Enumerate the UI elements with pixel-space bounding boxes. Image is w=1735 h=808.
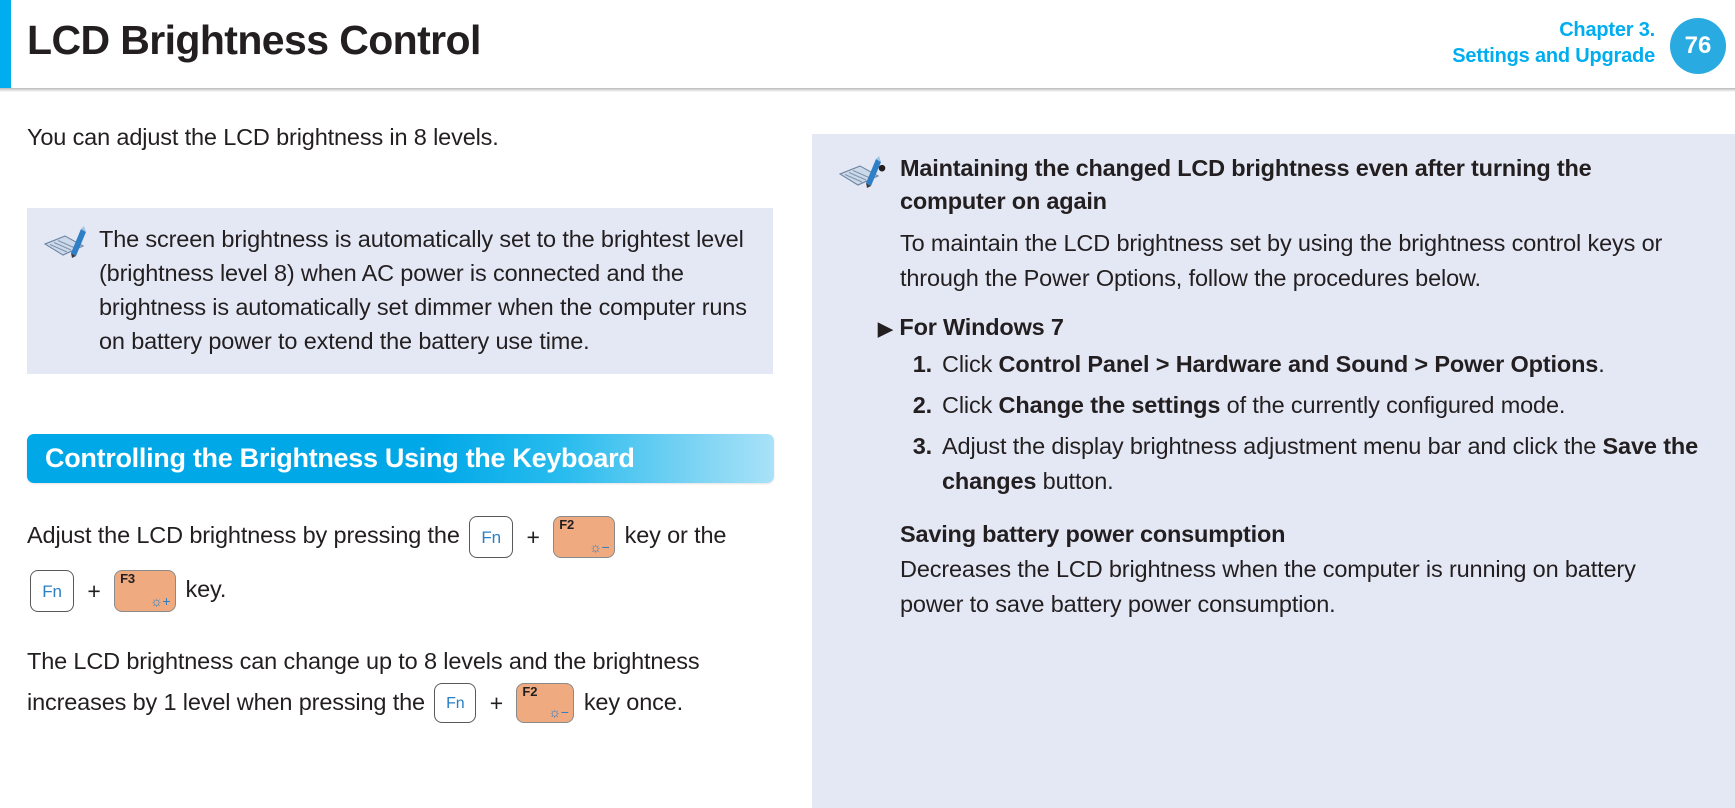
right-note-panel: • Maintaining the changed LCD brightness… [812,134,1735,808]
paragraph-adjust-brightness: Adjust the LCD brightness by pressing th… [27,509,775,617]
step-item-3: 3.Adjust the display brightness adjustme… [900,429,1703,499]
step-text-post-3: button. [1036,468,1113,494]
paragraph-adjust-part3: key. [185,576,226,602]
plus-sign-2: + [83,565,104,617]
plus-sign-3: + [486,683,507,724]
step-text-post-1: . [1598,351,1604,377]
left-column: You can adjust the LCD brightness in 8 l… [27,122,775,724]
bullet-marker: • [878,152,886,185]
chapter-line-1: Chapter 3. [1452,17,1655,43]
step-text-bold-2: Change the settings [999,392,1221,418]
saving-battery-paragraph: Decreases the LCD brightness when the co… [900,552,1703,622]
chapter-label: Chapter 3. Settings and Upgrade [1452,17,1655,69]
brightness-down-icon: ☼− [589,540,609,554]
paragraph-adjust-part2: key or the [625,522,727,548]
note-box-left: The screen brightness is automatically s… [27,208,773,374]
step-number-2: 2. [900,388,932,423]
intro-text: You can adjust the LCD brightness in 8 l… [27,122,775,152]
page-title: LCD Brightness Control [27,17,481,64]
key-f2-brightness-down[interactable]: F2 ☼− [553,516,615,558]
brightness-up-icon: ☼+ [150,594,170,608]
right-paragraph: To maintain the LCD brightness set by us… [900,226,1703,296]
note-text-left: The screen brightness is automatically s… [99,226,747,354]
right-bullet-heading-text: Maintaining the changed LCD brightness e… [900,155,1592,214]
key-f3-brightness-up[interactable]: F3 ☼+ [114,570,176,612]
key-fn[interactable]: Fn [469,516,513,558]
step-item-2: 2.Click Change the settings of the curre… [900,388,1703,423]
header-divider [0,88,1735,92]
key-fn-3[interactable]: Fn [434,683,476,723]
step-text-pre-1: Click [942,351,999,377]
section-heading-bar: Controlling the Brightness Using the Key… [27,434,774,483]
paragraph-levels-part2: key once. [584,689,683,715]
triangle-marker-icon: ▶ [878,319,892,340]
step-text-post-2: of the currently configured mode. [1220,392,1565,418]
step-number-1: 1. [900,347,932,382]
step-text-pre-2: Click [942,392,999,418]
page-header: LCD Brightness Control Chapter 3. Settin… [0,0,1735,92]
right-bullet-heading: • Maintaining the changed LCD brightness… [900,152,1703,218]
key-f2-label: F2 [559,518,574,532]
note-pencil-icon [43,224,87,264]
saving-battery-heading: Saving battery power consumption [900,521,1703,548]
windows7-heading-text: For Windows 7 [899,314,1063,340]
chapter-line-2: Settings and Upgrade [1452,43,1655,69]
step-text-pre-3: Adjust the display brightness adjustment… [942,433,1603,459]
plus-sign: + [523,511,544,563]
key-f2-label-2: F2 [522,685,537,699]
header-accent-bar [0,0,11,88]
key-f3-label: F3 [120,572,135,586]
windows7-heading: ▶For Windows 7 [878,314,1703,341]
step-item-1: 1.Click Control Panel > Hardware and Sou… [900,347,1703,382]
note-pencil-icon-right [838,154,882,194]
step-text-bold-1: Control Panel > Hardware and Sound > Pow… [999,351,1599,377]
page-number-badge: 76 [1670,18,1726,74]
step-number-3: 3. [900,429,932,464]
paragraph-brightness-levels: The LCD brightness can change up to 8 le… [27,641,775,724]
key-fn-2[interactable]: Fn [30,570,74,612]
section-heading-title: Controlling the Brightness Using the Key… [27,443,635,474]
brightness-down-icon-2: ☼− [548,705,568,719]
paragraph-adjust-part1: Adjust the LCD brightness by pressing th… [27,522,460,548]
key-f2-brightness-down-2[interactable]: F2 ☼− [516,683,574,723]
